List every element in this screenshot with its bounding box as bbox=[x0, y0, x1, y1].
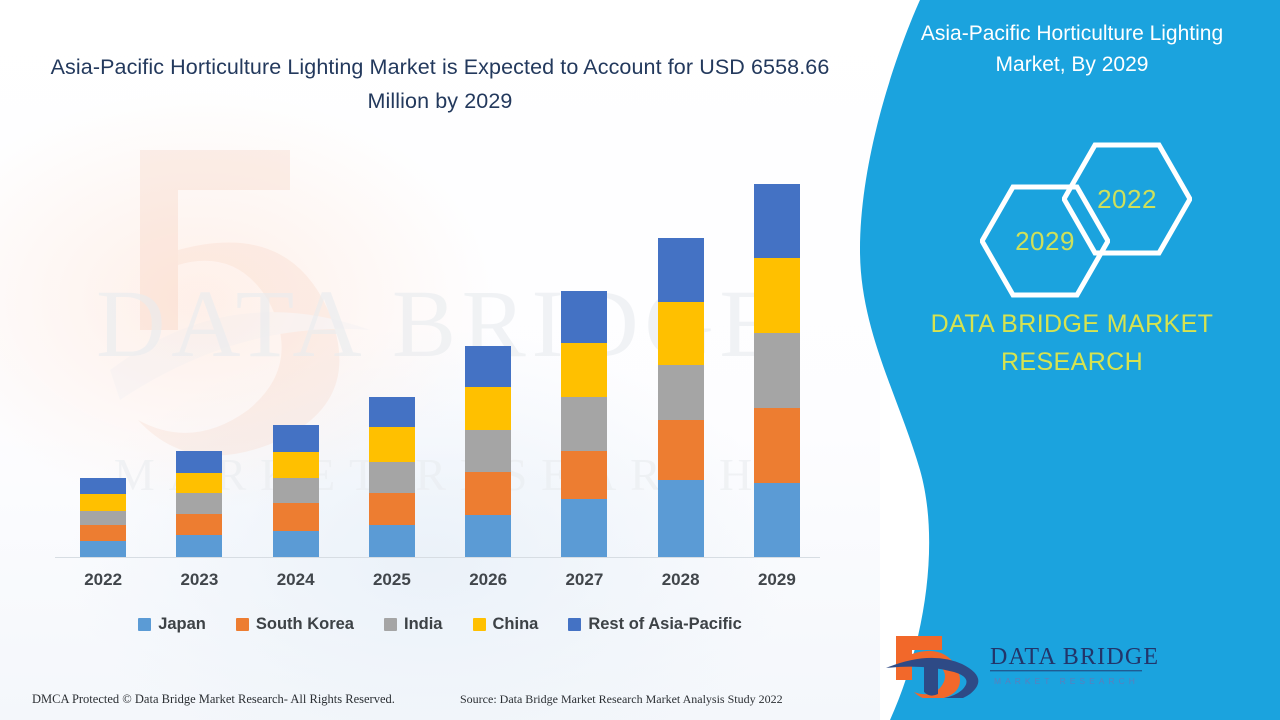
stacked-bar bbox=[561, 291, 607, 557]
bar-segment-south-korea bbox=[176, 514, 222, 535]
footer-copyright: DMCA Protected © Data Bridge Market Rese… bbox=[32, 692, 395, 707]
bar-segment-rest-of-asia-pacific bbox=[754, 184, 800, 258]
legend-label: South Korea bbox=[256, 615, 354, 634]
legend-item-south-korea[interactable]: South Korea bbox=[236, 615, 354, 634]
bar-segment-rest-of-asia-pacific bbox=[176, 451, 222, 473]
bar-segment-india bbox=[369, 462, 415, 493]
x-axis-label-2026: 2026 bbox=[440, 570, 536, 590]
legend-swatch-icon bbox=[568, 618, 581, 631]
bar-column-2023 bbox=[151, 161, 247, 557]
brand-name: DATA BRIDGE MARKET RESEARCH bbox=[884, 305, 1260, 381]
bar-column-2028 bbox=[633, 161, 729, 557]
bar-segment-china bbox=[561, 343, 607, 397]
bar-segment-japan bbox=[176, 535, 222, 557]
legend-swatch-icon bbox=[384, 618, 397, 631]
bar-segment-india bbox=[80, 511, 126, 525]
chart-legend: JapanSouth KoreaIndiaChinaRest of Asia-P… bbox=[55, 615, 825, 634]
x-axis-labels: 20222023202420252026202720282029 bbox=[55, 570, 825, 590]
bar-segment-china bbox=[80, 494, 126, 511]
bar-column-2026 bbox=[440, 161, 536, 557]
infographic-page: DATA BRIDGE MARKET RESEARCH Asia-Pacific… bbox=[0, 0, 1280, 720]
bar-segment-south-korea bbox=[754, 408, 800, 483]
x-axis-line bbox=[55, 557, 820, 558]
bar-segment-china bbox=[465, 387, 511, 430]
legend-label: Japan bbox=[158, 615, 206, 634]
bar-segment-india bbox=[273, 478, 319, 503]
hexagon-2029: 2029 bbox=[980, 182, 1110, 300]
bars-container bbox=[55, 161, 825, 557]
x-axis-label-2023: 2023 bbox=[151, 570, 247, 590]
bar-segment-south-korea bbox=[273, 503, 319, 531]
chart-title: Asia-Pacific Horticulture Lighting Marke… bbox=[40, 50, 840, 118]
brand-line-1: DATA BRIDGE MARKET bbox=[931, 310, 1214, 338]
stacked-bar bbox=[176, 451, 222, 557]
bar-column-2024 bbox=[248, 161, 344, 557]
bar-segment-japan bbox=[465, 515, 511, 557]
legend-item-japan[interactable]: Japan bbox=[138, 615, 206, 634]
legend-label: China bbox=[493, 615, 539, 634]
stacked-bar bbox=[273, 425, 319, 557]
bar-segment-rest-of-asia-pacific bbox=[80, 478, 126, 494]
footer-source: Source: Data Bridge Market Research Mark… bbox=[460, 692, 783, 707]
stacked-bar bbox=[369, 397, 415, 557]
bar-segment-rest-of-asia-pacific bbox=[273, 425, 319, 452]
bar-segment-japan bbox=[754, 483, 800, 557]
panel-title: Asia-Pacific Horticulture Lighting Marke… bbox=[886, 18, 1258, 80]
bar-column-2022 bbox=[55, 161, 151, 557]
bar-segment-japan bbox=[658, 480, 704, 557]
bar-segment-india bbox=[176, 493, 222, 514]
chart-area: DATA BRIDGE MARKET RESEARCH Asia-Pacific… bbox=[0, 0, 880, 720]
bar-segment-japan bbox=[80, 541, 126, 557]
bar-segment-china bbox=[176, 473, 222, 493]
legend-label: India bbox=[404, 615, 443, 634]
logo-subtitle: MARKET RESEARCH bbox=[994, 676, 1139, 686]
legend-item-china[interactable]: China bbox=[473, 615, 539, 634]
bar-segment-india bbox=[465, 430, 511, 472]
logo-title: DATA BRIDGE bbox=[990, 644, 1159, 670]
brand-line-2: RESEARCH bbox=[1001, 348, 1143, 376]
stacked-bar bbox=[658, 238, 704, 557]
stacked-bar bbox=[754, 184, 800, 557]
bar-segment-china bbox=[273, 452, 319, 478]
bar-segment-china bbox=[658, 302, 704, 365]
bar-segment-south-korea bbox=[369, 493, 415, 525]
x-axis-label-2027: 2027 bbox=[536, 570, 632, 590]
bar-segment-rest-of-asia-pacific bbox=[465, 346, 511, 387]
legend-swatch-icon bbox=[236, 618, 249, 631]
bar-column-2029 bbox=[729, 161, 825, 557]
stacked-bar bbox=[80, 478, 126, 557]
bar-column-2025 bbox=[344, 161, 440, 557]
bar-segment-rest-of-asia-pacific bbox=[561, 291, 607, 343]
bar-segment-japan bbox=[369, 525, 415, 557]
x-axis-label-2022: 2022 bbox=[55, 570, 151, 590]
footer: DMCA Protected © Data Bridge Market Rese… bbox=[0, 684, 880, 720]
legend-item-india[interactable]: India bbox=[384, 615, 443, 634]
hexagon-group: 2022 2029 bbox=[970, 140, 1270, 300]
data-bridge-logo: DATA BRIDGE MARKET RESEARCH bbox=[878, 632, 1178, 698]
bar-column-2027 bbox=[536, 161, 632, 557]
x-axis-label-2024: 2024 bbox=[248, 570, 344, 590]
bar-segment-india bbox=[561, 397, 607, 451]
bar-segment-south-korea bbox=[80, 525, 126, 541]
x-axis-label-2025: 2025 bbox=[344, 570, 440, 590]
bar-segment-japan bbox=[561, 499, 607, 557]
bar-segment-south-korea bbox=[561, 451, 607, 499]
right-panel: Asia-Pacific Horticulture Lighting Marke… bbox=[860, 0, 1280, 720]
x-axis-label-2028: 2028 bbox=[633, 570, 729, 590]
x-axis-label-2029: 2029 bbox=[729, 570, 825, 590]
legend-swatch-icon bbox=[473, 618, 486, 631]
bar-segment-japan bbox=[273, 531, 319, 557]
stacked-bar bbox=[465, 346, 511, 557]
bar-segment-india bbox=[754, 333, 800, 408]
bar-segment-china bbox=[754, 258, 800, 333]
legend-item-rest-of-asia-pacific[interactable]: Rest of Asia-Pacific bbox=[568, 615, 741, 634]
hexagon-2029-label: 2029 bbox=[980, 182, 1110, 300]
bar-segment-rest-of-asia-pacific bbox=[658, 238, 704, 302]
bar-segment-south-korea bbox=[658, 420, 704, 480]
legend-label: Rest of Asia-Pacific bbox=[588, 615, 741, 634]
bar-segment-china bbox=[369, 427, 415, 462]
bar-segment-south-korea bbox=[465, 472, 511, 515]
bar-segment-india bbox=[658, 365, 704, 420]
legend-swatch-icon bbox=[138, 618, 151, 631]
plot-region bbox=[55, 160, 825, 558]
bar-segment-rest-of-asia-pacific bbox=[369, 397, 415, 427]
